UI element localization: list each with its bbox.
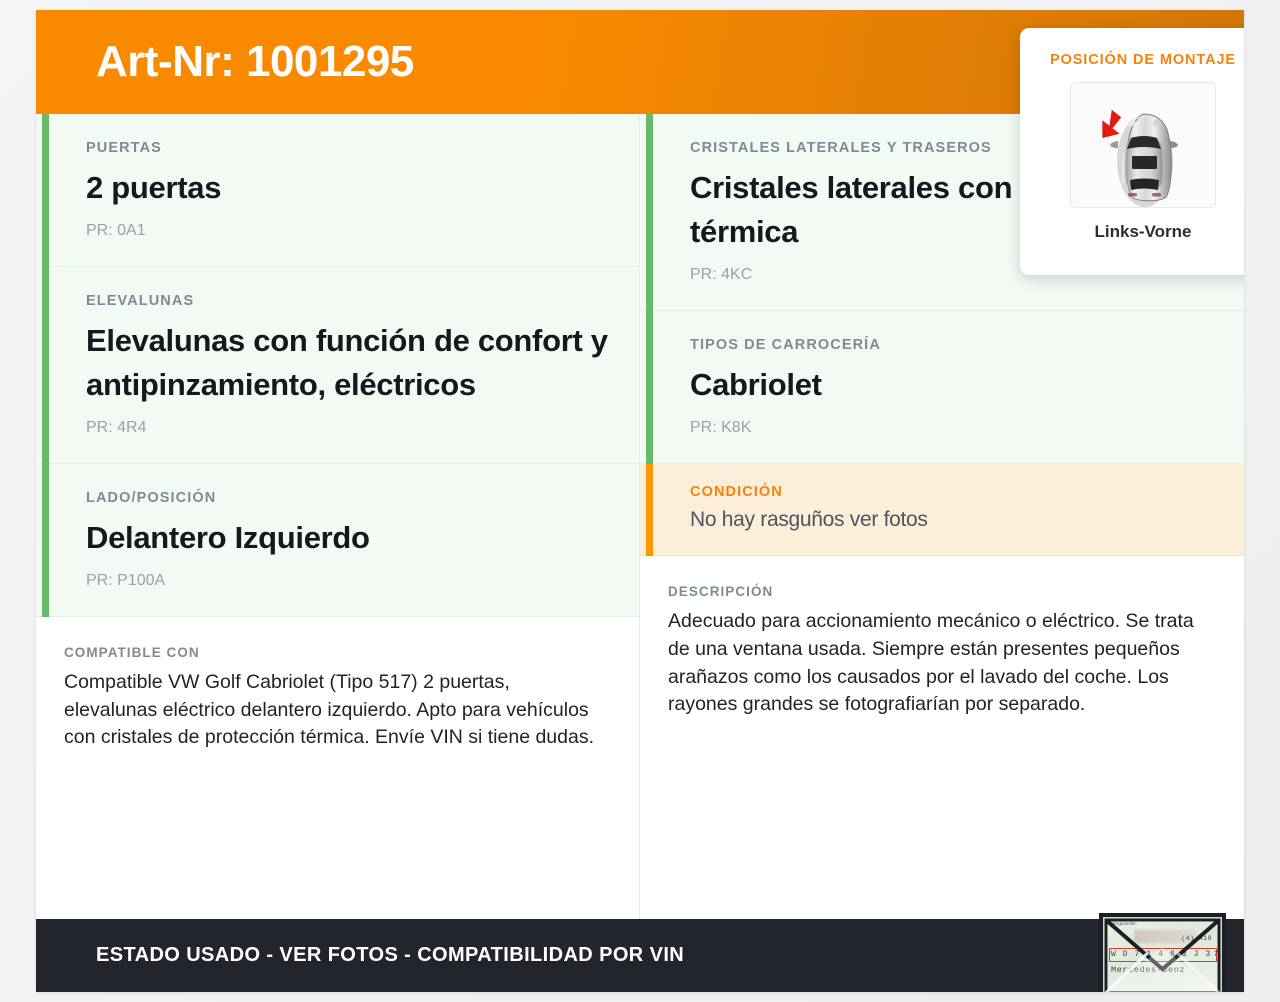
product-sheet: Art-Nr: 1001295 PUERTAS 2 puertas PR: 0A… <box>36 10 1244 992</box>
descripcion-block: DESCRIPCIÓN Adecuado para accionamiento … <box>640 556 1244 739</box>
footer-text: ESTADO USADO - VER FOTOS - COMPATIBILIDA… <box>96 944 684 967</box>
condition-card: CONDICIÓN No hay rasguños ver fotos <box>640 464 1244 556</box>
mounting-position-title: POSICIÓN DE MONTAJE <box>1020 52 1244 68</box>
spec-value: 2 puertas <box>86 166 609 210</box>
spec-pr-code: PR: 0A1 <box>86 222 609 240</box>
condition-value: No hay rasguños ver fotos <box>690 506 1214 533</box>
mounting-position-figure <box>1070 82 1216 208</box>
left-column: PUERTAS 2 puertas PR: 0A1 ELEVALUNAS Ele… <box>36 114 640 919</box>
spec-label: PUERTAS <box>86 140 609 156</box>
left-column-spacer <box>36 772 639 919</box>
mounting-position-caption: Links-Vorne <box>1020 222 1244 242</box>
mounting-position-card: POSICIÓN DE MONTAJE <box>1020 28 1244 275</box>
spec-pr-code: PR: K8K <box>690 419 1214 437</box>
spec-label: ELEVALUNAS <box>86 293 609 309</box>
spec-value: Cabriolet <box>690 363 1214 407</box>
spec-value: Elevalunas con función de confort y anti… <box>86 319 609 407</box>
spec-label: LADO/POSICIÓN <box>86 490 609 506</box>
vehicle-document-image: Fahrgestellnr. (4) A18 W D 7 1 4 6 3 J 3… <box>1103 917 1222 993</box>
envelope-icon <box>1104 918 1221 993</box>
descripcion-body: Adecuado para accionamiento mecánico o e… <box>668 608 1210 719</box>
vin-envelope-badge: Fahrgestellnr. (4) A18 W D 7 1 4 6 3 J 3… <box>1099 913 1226 993</box>
right-column-spacer <box>640 739 1244 919</box>
condition-label: CONDICIÓN <box>690 484 1214 500</box>
spec-card-puertas: PUERTAS 2 puertas PR: 0A1 <box>36 114 639 267</box>
compatible-con-label: COMPATIBLE CON <box>64 645 605 660</box>
spec-card-lado-posicion: LADO/POSICIÓN Delantero Izquierdo PR: P1… <box>36 464 639 617</box>
footer-bar: ESTADO USADO - VER FOTOS - COMPATIBILIDA… <box>36 919 1244 992</box>
compatible-con-block: COMPATIBLE CON Compatible VW Golf Cabrio… <box>36 617 639 772</box>
spec-label: TIPOS DE CARROCERÍA <box>690 337 1214 353</box>
spec-value: Delantero Izquierdo <box>86 516 609 560</box>
spec-card-elevalunas: ELEVALUNAS Elevalunas con función de con… <box>36 267 639 464</box>
spec-pr-code: PR: P100A <box>86 572 609 590</box>
descripcion-label: DESCRIPCIÓN <box>668 584 1210 599</box>
page-title: Art-Nr: 1001295 <box>96 37 414 87</box>
car-top-view-icon <box>1071 83 1217 209</box>
spec-pr-code: PR: 4R4 <box>86 419 609 437</box>
spec-card-carroceria: TIPOS DE CARROCERÍA Cabriolet PR: K8K <box>640 311 1244 464</box>
compatible-con-body: Compatible VW Golf Cabriolet (Tipo 517) … <box>64 669 605 752</box>
